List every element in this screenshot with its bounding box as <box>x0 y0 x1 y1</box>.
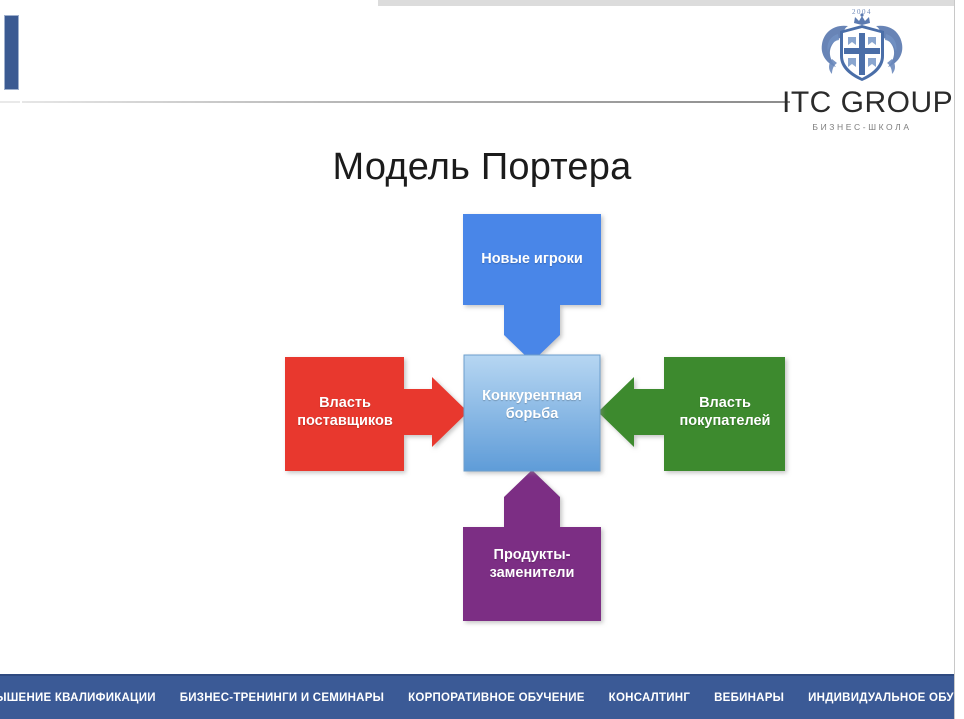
footer-item-1[interactable]: БИЗНЕС-ТРЕНИНГИ И СЕМИНАРЫ <box>168 692 396 704</box>
footer-item-2[interactable]: КОРПОРАТИВНОЕ ОБУЧЕНИЕ <box>396 692 597 704</box>
force-node-substitutes[interactable] <box>463 470 601 621</box>
force-node-competitive-rivalry[interactable] <box>464 355 600 471</box>
footer-item-4[interactable]: ВЕБИНАРЫ <box>702 692 796 704</box>
slide-canvas: 2004 <box>0 0 964 719</box>
footer-item-0[interactable]: ПОВЫШЕНИЕ КВАЛИФИКАЦИИ <box>0 692 168 704</box>
force-node-supplier-power[interactable] <box>285 357 468 471</box>
footer-item-5[interactable]: ИНДИВИДУАЛЬНОЕ ОБУЧЕНИЕ <box>796 692 964 704</box>
force-node-new-entrants[interactable] <box>463 214 601 362</box>
footer-nav: ПОВЫШЕНИЕ КВАЛИФИКАЦИИ БИЗНЕС-ТРЕНИНГИ И… <box>0 674 964 719</box>
force-node-buyer-power[interactable] <box>598 357 785 471</box>
slide-right-border <box>954 0 964 719</box>
porters-five-forces-diagram <box>0 0 964 719</box>
footer-item-3[interactable]: КОНСАЛТИНГ <box>597 692 702 704</box>
